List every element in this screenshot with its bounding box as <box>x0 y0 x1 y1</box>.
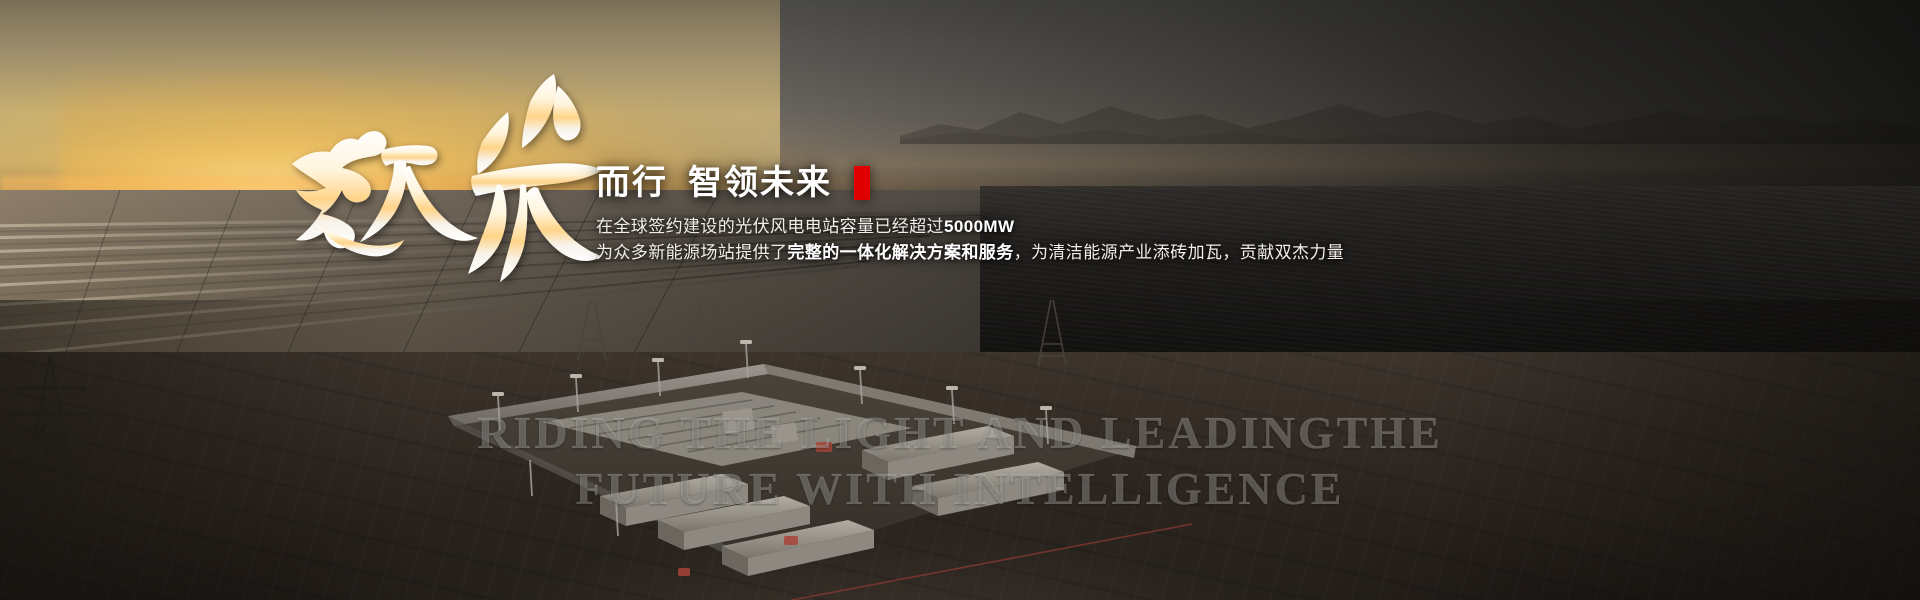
page-title: 而行 智领未来 <box>596 166 1356 200</box>
headline-part-b: 智领未来 <box>688 166 832 200</box>
hero-copy: 而行 智领未来 在全球签约建设的光伏风电电站容量已经超过5000MW 为众多新能… <box>596 166 1356 267</box>
subtitle-line-2: 为众多新能源场站提供了完整的一体化解决方案和服务，为清洁能源产业添砖加瓦，贡献双… <box>596 240 1356 266</box>
scene-vignette <box>0 300 1920 600</box>
subtitle-line2-text-b: ，为清洁能源产业添砖加瓦，贡献双杰力量 <box>1014 243 1345 262</box>
hero-banner: 而行 智领未来 在全球签约建设的光伏风电电站容量已经超过5000MW 为众多新能… <box>0 0 1920 600</box>
subtitle-line2-highlight: 完整的一体化解决方案和服务 <box>787 243 1013 262</box>
subtitle-line1-text: 在全球签约建设的光伏风电电站容量已经超过 <box>596 217 944 236</box>
headline-part-a: 而行 <box>596 166 668 200</box>
subtitle-line1-highlight: 5000MW <box>944 217 1014 236</box>
calligraphy-brand-mark <box>286 56 602 282</box>
hero-subtitle: 在全球签约建设的光伏风电电站容量已经超过5000MW 为众多新能源场站提供了完整… <box>596 214 1356 267</box>
accent-block <box>854 166 870 200</box>
subtitle-line-1: 在全球签约建设的光伏风电电站容量已经超过5000MW <box>596 214 1356 240</box>
subtitle-line2-text-a: 为众多新能源场站提供了 <box>596 243 787 262</box>
